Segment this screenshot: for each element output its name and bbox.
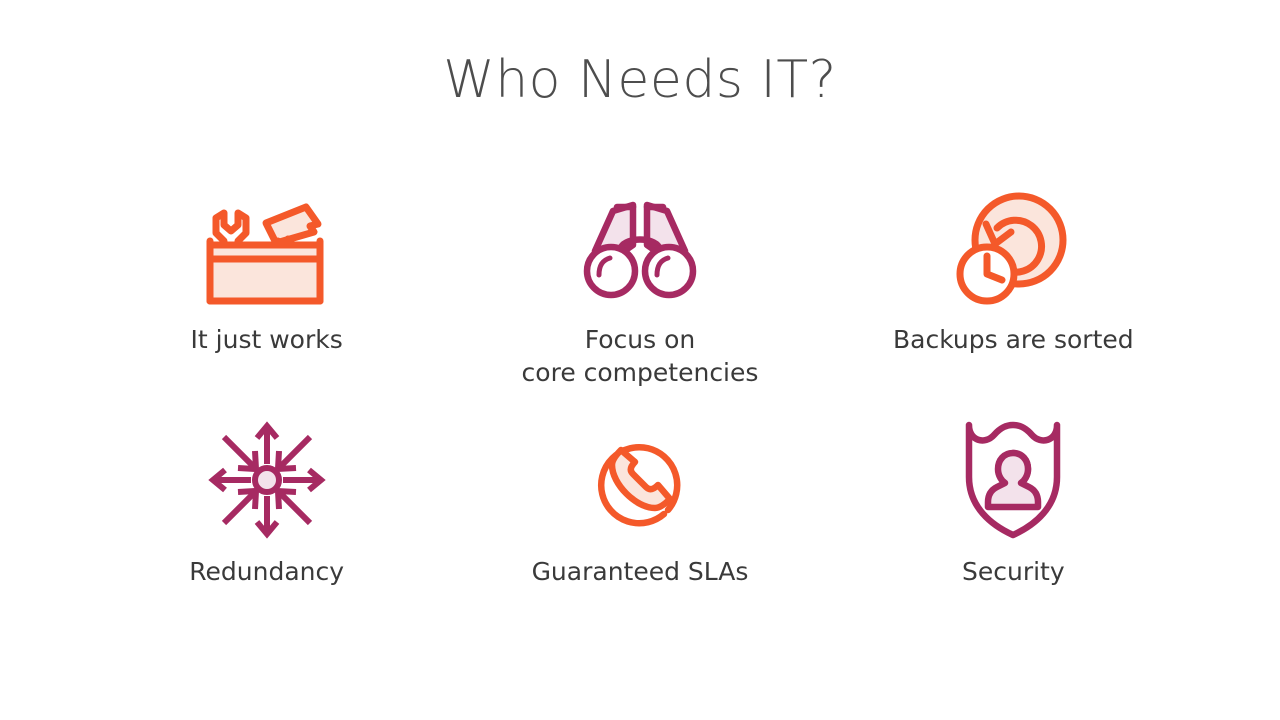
multi-direction-arrows-icon: [208, 412, 326, 547]
page-title: Who Needs IT?: [0, 52, 1280, 109]
binoculars-icon: [581, 180, 699, 315]
backup-clock-icon: [953, 180, 1073, 315]
feature-item-security[interactable]: Security: [827, 412, 1200, 644]
phone-handset-icon: [588, 412, 692, 547]
feature-label: Redundancy: [189, 555, 344, 588]
feature-label: Backups are sorted: [893, 323, 1134, 356]
feature-label: Security: [962, 555, 1065, 588]
feature-item-backups-are-sorted[interactable]: Backups are sorted: [827, 180, 1200, 412]
feature-label: Focus on core competencies: [522, 323, 759, 389]
feature-grid: It just works: [80, 180, 1200, 660]
toolbox-icon: [202, 180, 332, 315]
feature-item-focus-on-core-competencies[interactable]: Focus on core competencies: [453, 180, 826, 412]
shield-person-icon: [963, 412, 1063, 547]
feature-item-guaranteed-slas[interactable]: Guaranteed SLAs: [453, 412, 826, 644]
feature-item-redundancy[interactable]: Redundancy: [80, 412, 453, 644]
feature-label: It just works: [191, 323, 343, 356]
feature-label: Guaranteed SLAs: [532, 555, 749, 588]
feature-item-it-just-works[interactable]: It just works: [80, 180, 453, 412]
slide-canvas: Who Needs IT?: [0, 0, 1280, 720]
